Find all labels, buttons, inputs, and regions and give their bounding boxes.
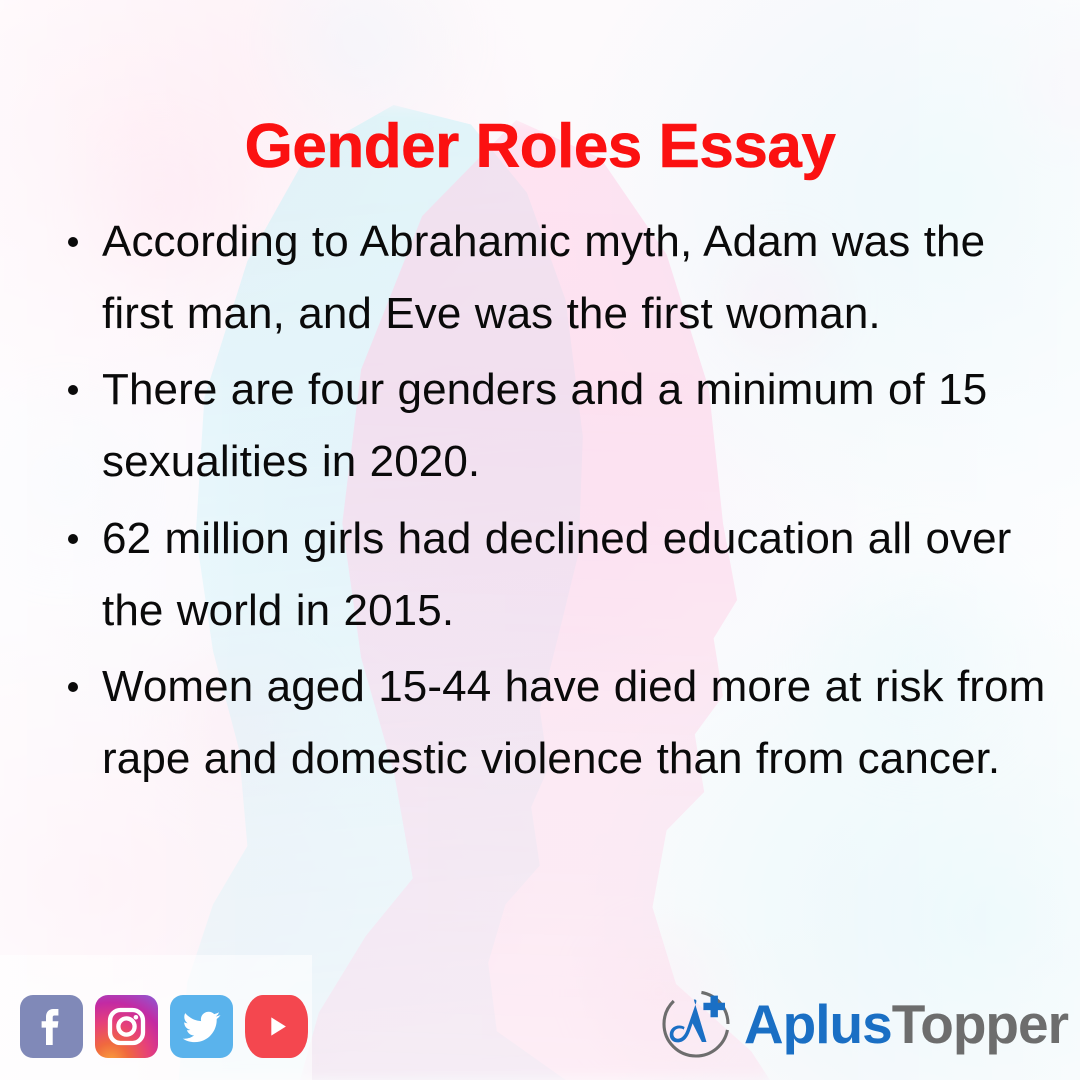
social-media-panel: [0, 955, 312, 1080]
list-item: There are four genders and a minimum of …: [64, 354, 1064, 498]
list-item: According to Abrahamic myth, Adam was th…: [64, 206, 1064, 350]
brand-word-secondary: Topper: [892, 993, 1068, 1055]
page-title: Gender Roles Essay: [0, 116, 1080, 178]
twitter-icon[interactable]: [170, 995, 233, 1058]
fact-list: According to Abrahamic myth, Adam was th…: [64, 206, 1064, 799]
instagram-icon[interactable]: [95, 995, 158, 1058]
youtube-icon[interactable]: [245, 995, 308, 1058]
poster-canvas: Gender Roles Essay According to Abrahami…: [0, 0, 1080, 1080]
social-icon-row: [20, 995, 308, 1058]
brand-wordmark: AplusTopper: [744, 997, 1068, 1052]
a-plus-circle-icon: [654, 982, 738, 1066]
brand-word-primary: Aplus: [744, 993, 892, 1055]
list-item: Women aged 15-44 have died more at risk …: [64, 651, 1064, 795]
poster-content: Gender Roles Essay According to Abrahami…: [0, 0, 1080, 1080]
facebook-icon[interactable]: [20, 995, 83, 1058]
brand-logo[interactable]: AplusTopper: [654, 982, 1068, 1066]
list-item: 62 million girls had declined education …: [64, 503, 1064, 647]
